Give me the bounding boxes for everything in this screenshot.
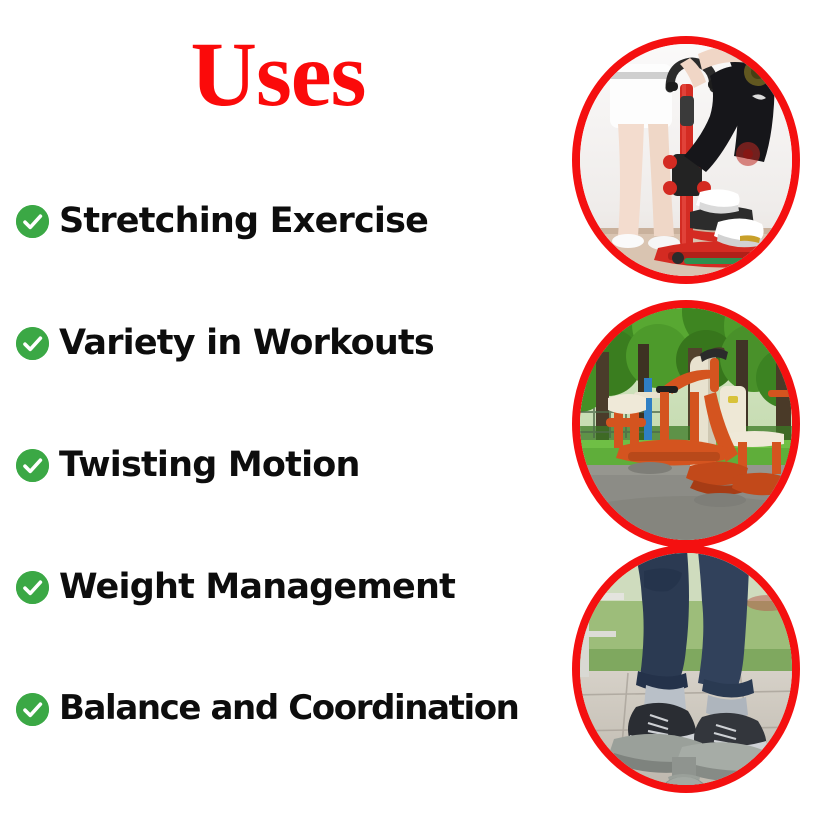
list-item: Balance and Coordination [0,648,570,770]
list-item: Stretching Exercise [0,160,570,282]
check-circle-icon [16,449,49,482]
list-item-label: Weight Management [59,569,455,606]
list-item-label: Balance and Coordination [59,691,518,727]
infographic-canvas: Uses Stretching Exercise Variety in Work… [0,0,823,823]
photo-clip [572,300,800,548]
list-item: Twisting Motion [0,404,570,526]
page-title: Uses [0,28,556,120]
check-circle-icon [16,693,49,726]
check-circle-icon [16,571,49,604]
photo-clip [572,36,800,284]
list-item-label: Variety in Workouts [59,325,434,362]
check-circle-icon [16,327,49,360]
photo-clip [572,545,800,793]
check-circle-icon [16,205,49,238]
benefits-list: Stretching Exercise Variety in Workouts … [0,160,570,770]
photo-feet-on-twist-board [572,545,800,793]
list-item-label: Stretching Exercise [59,203,428,240]
photo-outdoor-park-gym [572,300,800,548]
list-item: Variety in Workouts [0,282,570,404]
photo-indoor-twist-stepper [572,36,800,284]
list-item-label: Twisting Motion [59,447,360,484]
list-item: Weight Management [0,526,570,648]
